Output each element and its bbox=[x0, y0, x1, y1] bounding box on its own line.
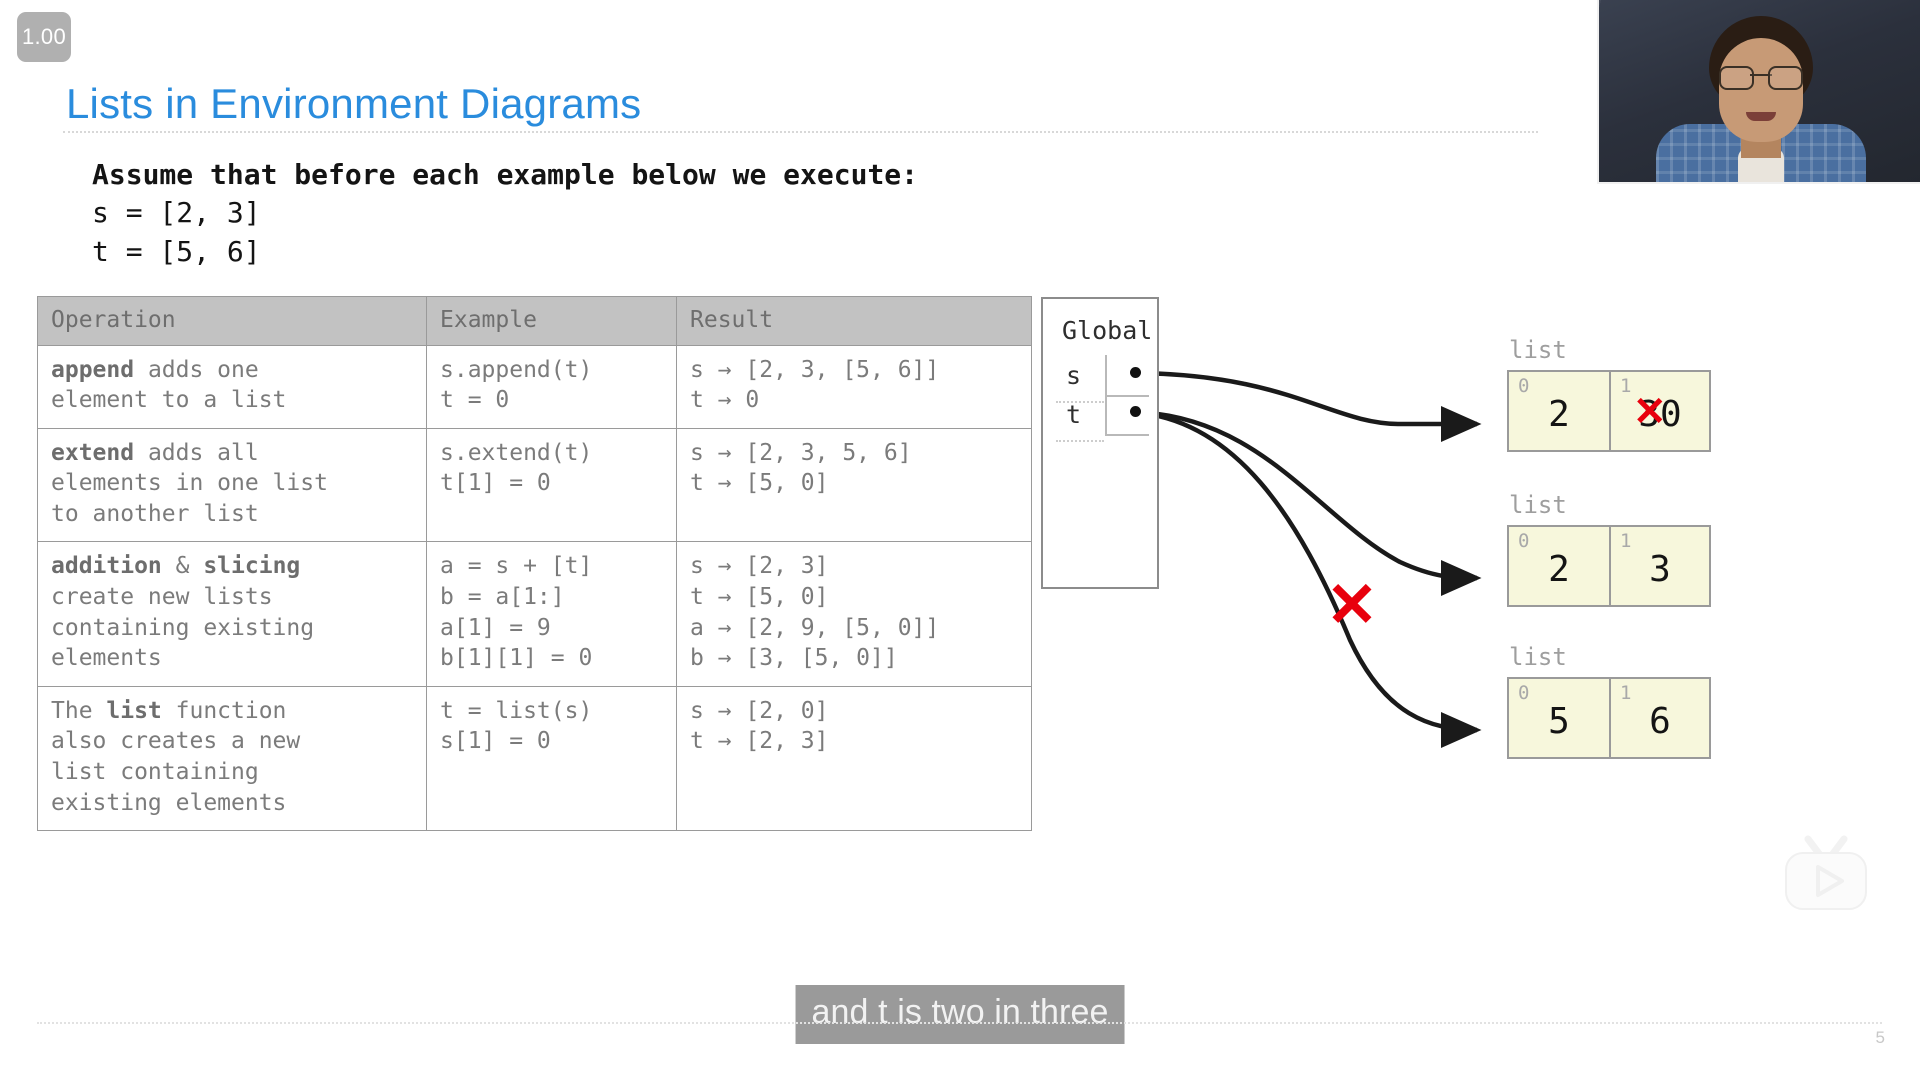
list-cell: 0 2 bbox=[1509, 372, 1609, 450]
list-object-2: list 0 2 1 3 bbox=[1507, 525, 1711, 607]
list-cell: 1 6 bbox=[1609, 679, 1709, 757]
binding-pointer-dot bbox=[1130, 406, 1141, 417]
cell-value-new: 0 bbox=[1660, 394, 1682, 435]
cell-value: 2 bbox=[1509, 394, 1609, 435]
global-frame: Global s t bbox=[1041, 297, 1159, 589]
footer-divider bbox=[37, 1022, 1882, 1024]
list-caption: list bbox=[1509, 336, 1567, 364]
list-cell: 1 3 0 ✕ bbox=[1609, 372, 1709, 450]
list-cells: 0 2 1 3 bbox=[1507, 525, 1711, 607]
list-cell: 0 2 bbox=[1509, 527, 1609, 605]
slide-stage: 1.00 Lists in Environment Diagrams Assum… bbox=[0, 0, 1920, 1080]
cell-value: 3 bbox=[1611, 549, 1709, 590]
page-number: 5 bbox=[1876, 1028, 1885, 1048]
list-caption: list bbox=[1509, 643, 1567, 671]
list-cell: 1 3 bbox=[1609, 527, 1709, 605]
binding-value-well bbox=[1105, 355, 1149, 397]
frame-label: Global bbox=[1062, 316, 1152, 345]
list-object-3: list 0 5 1 6 bbox=[1507, 677, 1711, 759]
list-cells: 0 5 1 6 bbox=[1507, 677, 1711, 759]
binding-name: t bbox=[1066, 400, 1081, 429]
cell-value-old: 3 bbox=[1638, 394, 1660, 435]
binding-s: s bbox=[1056, 359, 1146, 399]
list-object-1: list 0 2 1 3 0 ✕ bbox=[1507, 370, 1711, 452]
binding-value-well bbox=[1105, 394, 1149, 436]
binding-t: t bbox=[1056, 398, 1146, 438]
list-caption: list bbox=[1509, 491, 1567, 519]
cell-value: 2 bbox=[1509, 549, 1609, 590]
cell-value: 6 bbox=[1611, 701, 1709, 742]
binding-name: s bbox=[1066, 361, 1081, 390]
cell-value-replaced: 3 0 bbox=[1611, 394, 1709, 435]
binding-pointer-dot bbox=[1130, 367, 1141, 378]
list-cell: 0 5 bbox=[1509, 679, 1609, 757]
cell-value: 5 bbox=[1509, 701, 1609, 742]
binding-underline bbox=[1056, 440, 1104, 442]
video-caption: and t is two in three bbox=[796, 985, 1125, 1044]
list-cells: 0 2 1 3 0 ✕ bbox=[1507, 370, 1711, 452]
tv-play-logo-icon bbox=[1782, 835, 1870, 913]
